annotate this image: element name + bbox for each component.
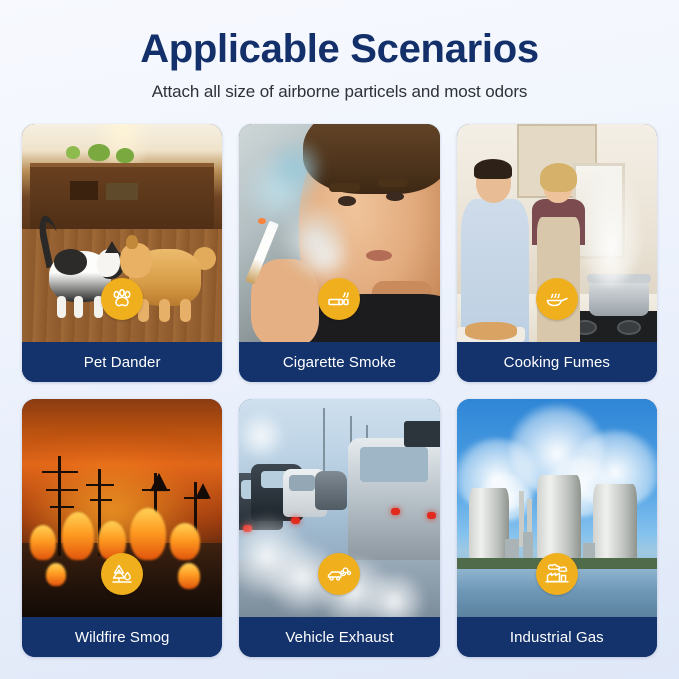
scenario-photo-cigarette-smoke: [239, 124, 439, 342]
scenario-card-industrial-gas[interactable]: Industrial Gas: [457, 399, 657, 657]
scenario-label: Pet Dander: [84, 354, 161, 371]
factory-smoke-icon: [536, 553, 578, 595]
scenario-label: Cooking Fumes: [504, 354, 610, 371]
scenario-card-wildfire-smog[interactable]: Wildfire Smog: [22, 399, 222, 657]
scenario-photo-vehicle-exhaust: [239, 399, 439, 617]
burning-forest-icon: [101, 553, 143, 595]
scenario-label: Vehicle Exhaust: [285, 629, 393, 646]
scenario-label-bar-vehicle-exhaust: Vehicle Exhaust: [239, 617, 439, 657]
scenario-label-bar-cigarette-smoke: Cigarette Smoke: [239, 342, 439, 382]
scenario-photo-industrial-gas: [457, 399, 657, 617]
scenario-label: Industrial Gas: [510, 629, 604, 646]
steaming-pan-icon: [536, 278, 578, 320]
scenario-label-bar-cooking-fumes: Cooking Fumes: [457, 342, 657, 382]
car-exhaust-icon: [318, 553, 360, 595]
scenario-card-cooking-fumes[interactable]: Cooking Fumes: [457, 124, 657, 382]
scenario-card-pet-dander[interactable]: Pet Dander: [22, 124, 222, 382]
scenario-label-bar-industrial-gas: Industrial Gas: [457, 617, 657, 657]
scenario-label: Cigarette Smoke: [283, 354, 396, 371]
page-title: Applicable Scenarios: [0, 26, 679, 72]
scenario-label-bar-pet-dander: Pet Dander: [22, 342, 222, 382]
scenario-photo-cooking-fumes: [457, 124, 657, 342]
scenario-card-cigarette-smoke[interactable]: Cigarette Smoke: [239, 124, 439, 382]
cigarette-icon: [318, 278, 360, 320]
paw-print-icon: [101, 278, 143, 320]
scenario-label: Wildfire Smog: [75, 629, 170, 646]
scenario-card-vehicle-exhaust[interactable]: Vehicle Exhaust: [239, 399, 439, 657]
scenario-label-bar-wildfire-smog: Wildfire Smog: [22, 617, 222, 657]
page-subtitle: Attach all size of airborne particels an…: [0, 82, 679, 102]
scenario-photo-wildfire-smog: [22, 399, 222, 617]
scenario-photo-pet-dander: [22, 124, 222, 342]
page-header: Applicable Scenarios Attach all size of …: [0, 0, 679, 102]
applicable-scenarios-page: Applicable Scenarios Attach all size of …: [0, 0, 679, 679]
scenario-grid: Pet Dander: [22, 124, 657, 657]
